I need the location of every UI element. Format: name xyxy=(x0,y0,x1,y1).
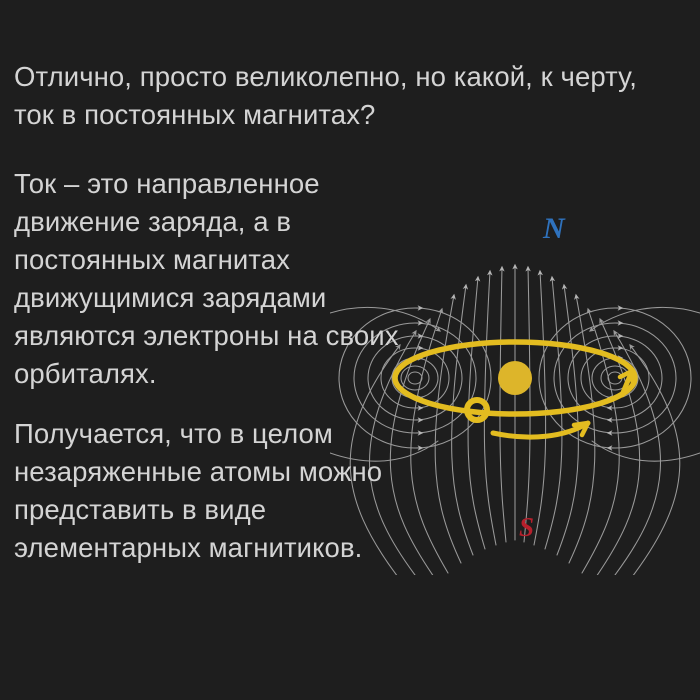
north-pole-label: N xyxy=(543,212,565,246)
paragraph-conclusion: Получается, что в целом незаряженные ато… xyxy=(14,415,454,567)
paragraph-question: Отлично, просто великолепно, но какой, к… xyxy=(14,58,680,134)
paragraph-definition: Ток – это направленное движение заряда, … xyxy=(14,165,434,393)
text-content: Отлично, просто великолепно, но какой, к… xyxy=(0,0,700,700)
south-pole-label: S xyxy=(519,512,534,543)
slide-root: N S Отлично, просто великолепно, но како… xyxy=(0,0,700,700)
